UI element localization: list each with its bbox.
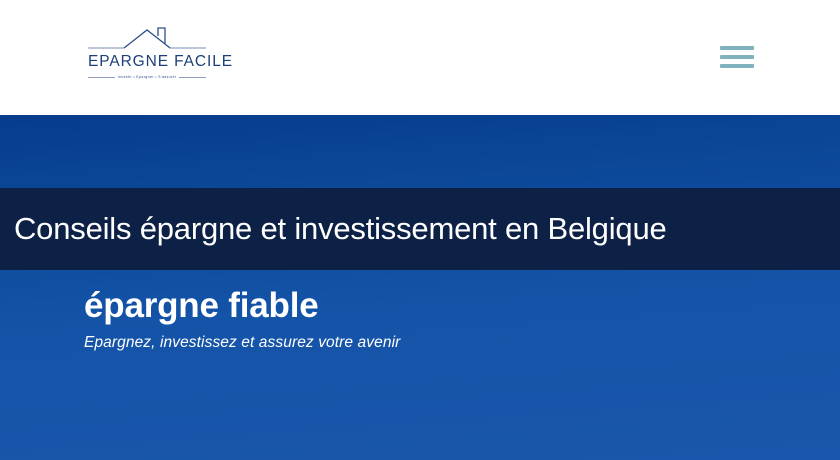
hero-title-line2: épargne fiable xyxy=(84,286,319,325)
menu-bar-2 xyxy=(720,55,754,59)
menu-bar-1 xyxy=(720,46,754,50)
hero-subtitle: Epargnez, investissez et assurez votre a… xyxy=(84,334,400,352)
hamburger-menu-icon[interactable] xyxy=(720,44,754,70)
page-root: EPARGNE FACILE Investir • Epargner • S'a… xyxy=(0,0,840,460)
site-logo[interactable]: EPARGNE FACILE Investir • Epargner • S'a… xyxy=(88,24,206,86)
site-header: EPARGNE FACILE Investir • Epargner • S'a… xyxy=(0,0,840,115)
logo-tagline: Investir • Epargner • S'assurer xyxy=(118,75,177,79)
tagline-rule-left xyxy=(88,77,115,78)
menu-bar-3 xyxy=(720,64,754,68)
hero-section: Epargne facile votre partenaire épargne … xyxy=(0,115,840,460)
tagline-rule-right xyxy=(179,77,206,78)
hero-overlay-band: Conseils épargne et investissement en Be… xyxy=(0,188,840,270)
logo-tagline-row: Investir • Epargner • S'assurer xyxy=(88,72,206,82)
hero-inner: Epargne facile votre partenaire épargne … xyxy=(0,115,840,460)
logo-wordmark: EPARGNE FACILE xyxy=(88,52,206,71)
page-title: Conseils épargne et investissement en Be… xyxy=(0,211,667,247)
